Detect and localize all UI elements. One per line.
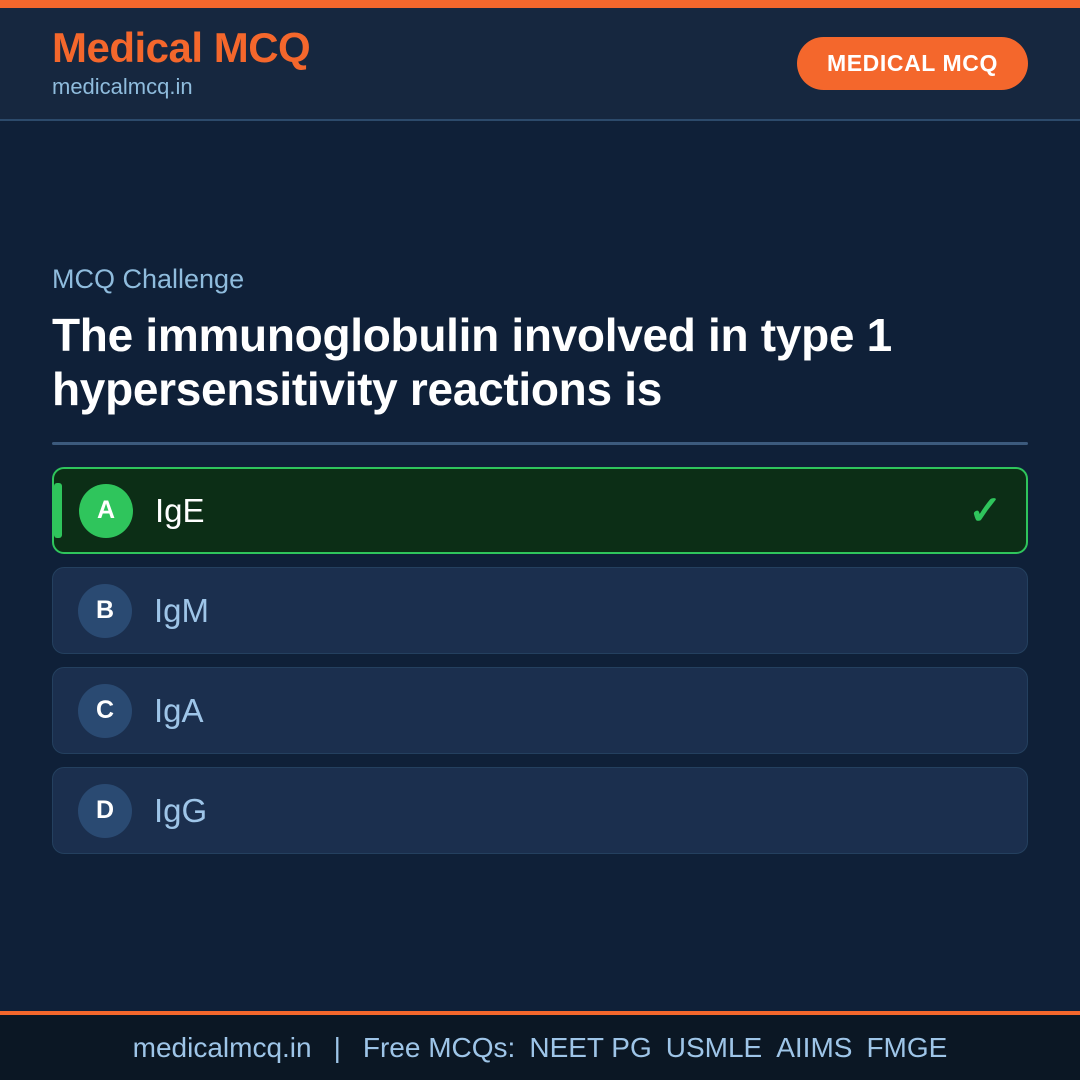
footer-exam-fmge: FMGE: [866, 1032, 947, 1064]
footer: medicalmcq.in | Free MCQs: NEET PG USMLE…: [0, 1011, 1080, 1080]
mcq-card: Medical MCQ medicalmcq.in MEDICAL MCQ MC…: [0, 0, 1080, 1080]
footer-exam-neetpg: NEET PG: [529, 1032, 651, 1064]
option-d-badge: D: [78, 784, 132, 838]
top-accent-bar: [0, 0, 1080, 8]
footer-text: medicalmcq.in | Free MCQs: NEET PG USMLE…: [133, 1032, 948, 1064]
option-a[interactable]: A IgE ✓: [52, 467, 1028, 554]
option-b[interactable]: B IgM: [52, 567, 1028, 654]
header-badge: MEDICAL MCQ: [797, 37, 1028, 90]
option-d-text: IgG: [154, 791, 207, 831]
header: Medical MCQ medicalmcq.in MEDICAL MCQ: [0, 8, 1080, 121]
footer-separator: |: [334, 1032, 341, 1064]
main-content: MCQ Challenge The immunoglobulin involve…: [0, 121, 1080, 1011]
option-b-badge: B: [78, 584, 132, 638]
brand-title: Medical MCQ: [52, 26, 310, 70]
footer-label: Free MCQs:: [363, 1032, 515, 1064]
divider: [52, 442, 1028, 445]
question-text: The immunoglobulin involved in type 1 hy…: [52, 309, 1012, 416]
option-a-badge: A: [79, 484, 133, 538]
option-b-text: IgM: [154, 591, 209, 631]
option-c[interactable]: C IgA: [52, 667, 1028, 754]
footer-exam-aiims: AIIMS: [776, 1032, 852, 1064]
options-list: A IgE ✓ B IgM C IgA D IgG: [52, 467, 1028, 854]
brand-subtitle: medicalmcq.in: [52, 73, 310, 102]
option-a-text: IgE: [155, 491, 205, 531]
brand: Medical MCQ medicalmcq.in: [52, 26, 310, 102]
option-d[interactable]: D IgG: [52, 767, 1028, 854]
kicker-label: MCQ Challenge: [52, 263, 1028, 295]
footer-site: medicalmcq.in: [133, 1032, 312, 1064]
check-icon: ✓: [968, 491, 1002, 531]
option-c-badge: C: [78, 684, 132, 738]
option-c-text: IgA: [154, 691, 204, 731]
footer-exam-usmle: USMLE: [666, 1032, 762, 1064]
